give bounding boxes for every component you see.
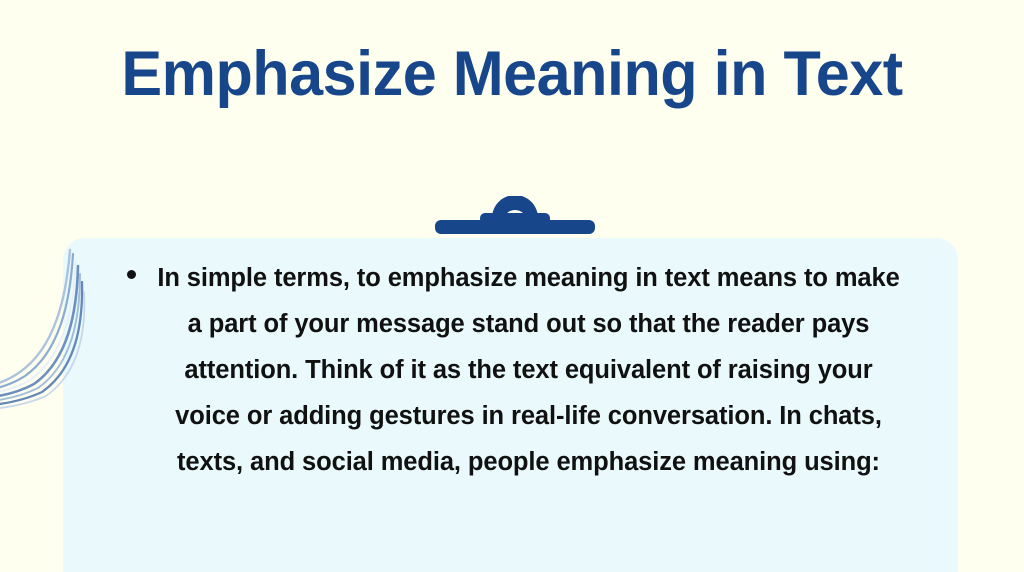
slide-canvas: Emphasize Meaning in Text <box>0 0 1024 572</box>
arch-divider-ornament <box>435 196 595 234</box>
list-item: In simple terms, to emphasize meaning in… <box>63 255 958 485</box>
body-text: In simple terms, to emphasize meaning in… <box>157 264 899 476</box>
ornament-base-bar <box>435 220 595 234</box>
arch-divider-ornament-svg <box>435 196 595 234</box>
page-title: Emphasize Meaning in Text <box>15 38 1008 110</box>
body-list: In simple terms, to emphasize meaning in… <box>63 255 958 485</box>
bullet-point-icon <box>127 270 136 279</box>
title-block: Emphasize Meaning in Text <box>0 38 1024 110</box>
